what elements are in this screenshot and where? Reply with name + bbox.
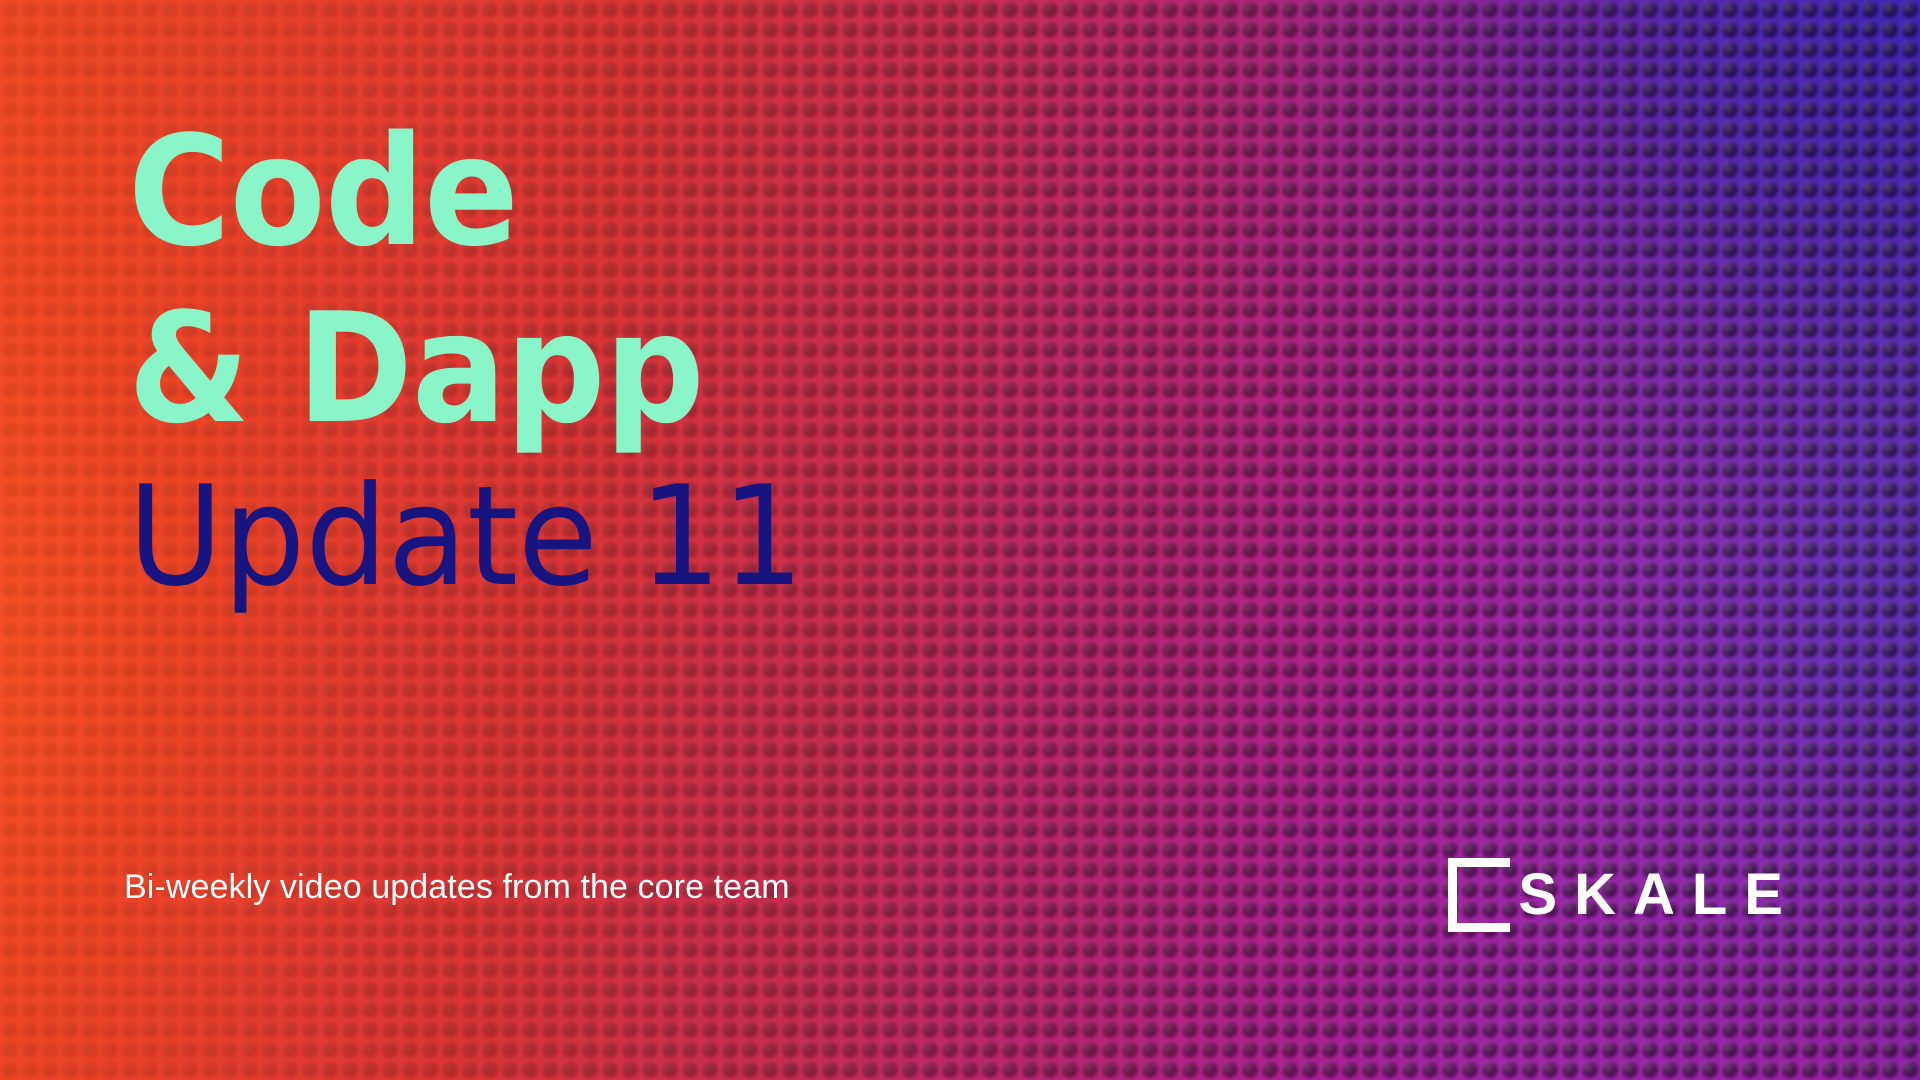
banner-content: Code & Dapp Update 11 Bi-weekly video up…	[0, 0, 1920, 1080]
tagline: Bi-weekly video updates from the core te…	[124, 868, 790, 907]
subheadline-update-number: Update 11	[128, 468, 804, 606]
headline-line-1: Code	[128, 118, 790, 267]
skale-wordmark: SKALE	[1504, 866, 1800, 924]
bracket-frame-icon	[1448, 858, 1510, 932]
promo-banner: Code & Dapp Update 11 Bi-weekly video up…	[0, 0, 1920, 1080]
headline-block: Code & Dapp Update 11	[128, 118, 847, 606]
headline-line-2: & Dapp	[128, 295, 790, 444]
skale-logo: SKALE	[1448, 856, 1800, 934]
